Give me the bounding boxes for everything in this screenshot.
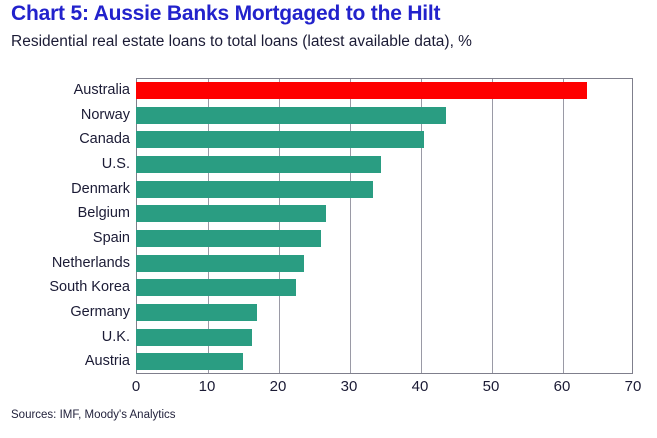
category-axis-labels: AustraliaNorwayCanadaU.S.DenmarkBelgiumS… [0, 78, 130, 374]
bar-netherlands[interactable] [136, 255, 304, 272]
x-tick-label-70: 70 [625, 378, 642, 395]
sources-note: Sources: IMF, Moody's Analytics [11, 409, 176, 421]
bar-fill [136, 329, 252, 346]
bar-fill [136, 304, 257, 321]
chart-title: Chart 5: Aussie Banks Mortgaged to the H… [11, 2, 440, 26]
bar-fill [136, 353, 243, 370]
x-tick-label-60: 60 [554, 378, 571, 395]
bar-fill [136, 131, 424, 148]
bar-fill [136, 181, 373, 198]
bar-australia[interactable] [136, 82, 587, 99]
bar-u-s[interactable] [136, 156, 381, 173]
chart-subtitle: Residential real estate loans to total l… [11, 33, 472, 51]
category-label-south-korea: South Korea [0, 279, 130, 296]
x-tick-label-10: 10 [199, 378, 216, 395]
x-tick-label-40: 40 [412, 378, 429, 395]
bars-layer [136, 78, 633, 374]
bar-denmark[interactable] [136, 181, 373, 198]
category-label-germany: Germany [0, 304, 130, 321]
category-label-u-s: U.S. [0, 156, 130, 173]
category-label-spain: Spain [0, 230, 130, 247]
bar-fill [136, 156, 381, 173]
bar-belgium[interactable] [136, 205, 326, 222]
category-label-australia: Australia [0, 82, 130, 99]
bar-fill [136, 279, 296, 296]
category-label-denmark: Denmark [0, 181, 130, 198]
category-label-norway: Norway [0, 107, 130, 124]
bar-u-k[interactable] [136, 329, 252, 346]
bar-fill [136, 255, 304, 272]
bar-germany[interactable] [136, 304, 257, 321]
category-label-netherlands: Netherlands [0, 255, 130, 272]
x-tick-label-0: 0 [132, 378, 140, 395]
bar-spain[interactable] [136, 230, 321, 247]
category-label-belgium: Belgium [0, 205, 130, 222]
x-tick-label-50: 50 [483, 378, 500, 395]
bar-austria[interactable] [136, 353, 243, 370]
bar-norway[interactable] [136, 107, 446, 124]
plot-wrapper [136, 78, 633, 374]
bar-fill [136, 230, 321, 247]
bar-south-korea[interactable] [136, 279, 296, 296]
bar-fill [136, 205, 326, 222]
category-label-canada: Canada [0, 131, 130, 148]
bar-fill [136, 107, 446, 124]
category-label-austria: Austria [0, 353, 130, 370]
bar-fill [136, 82, 587, 99]
x-tick-label-20: 20 [270, 378, 287, 395]
x-axis-tick-labels: 010203040506070 [136, 378, 633, 402]
x-tick-label-30: 30 [341, 378, 358, 395]
bar-canada[interactable] [136, 131, 424, 148]
category-label-u-k: U.K. [0, 329, 130, 346]
